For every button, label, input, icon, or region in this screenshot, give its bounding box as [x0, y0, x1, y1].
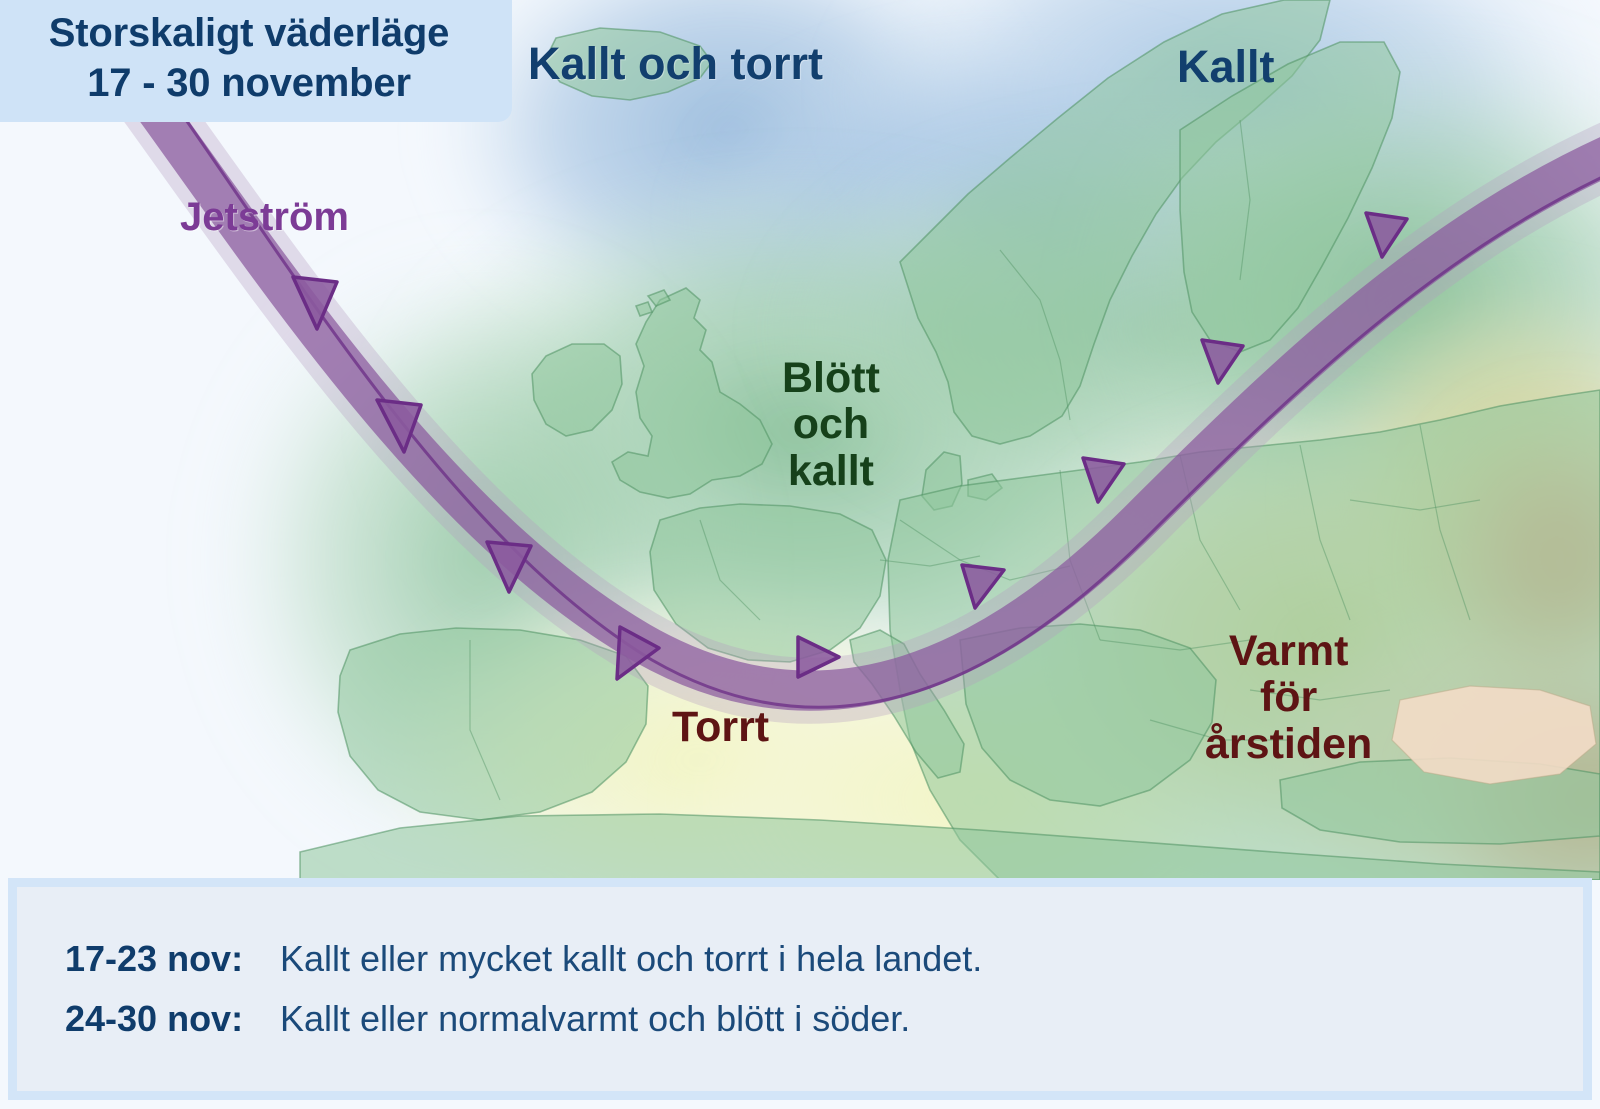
forecast-row-1: 17-23 nov: Kallt eller mycket kallt och … [65, 938, 1583, 980]
title-line-2: 17 - 30 november [0, 58, 498, 108]
forecast-text-2: Kallt eller normalvarmt och blött i söde… [280, 998, 910, 1040]
title-box: Storskaligt väderläge 17 - 30 november [0, 0, 512, 122]
title-line-1: Storskaligt väderläge [0, 8, 498, 58]
forecast-row-2: 24-30 nov: Kallt eller normalvarmt och b… [65, 998, 1583, 1040]
weather-outlook-infographic: Kallt och torrt Kallt Blött och kallt To… [0, 0, 1600, 1109]
forecast-text-1: Kallt eller mycket kallt och torrt i hel… [280, 938, 982, 980]
black-sea [1392, 686, 1596, 784]
forecast-period-2: 24-30 nov: [65, 998, 280, 1040]
forecast-period-1: 17-23 nov: [65, 938, 280, 980]
forecast-summary-box: 17-23 nov: Kallt eller mycket kallt och … [8, 878, 1592, 1100]
